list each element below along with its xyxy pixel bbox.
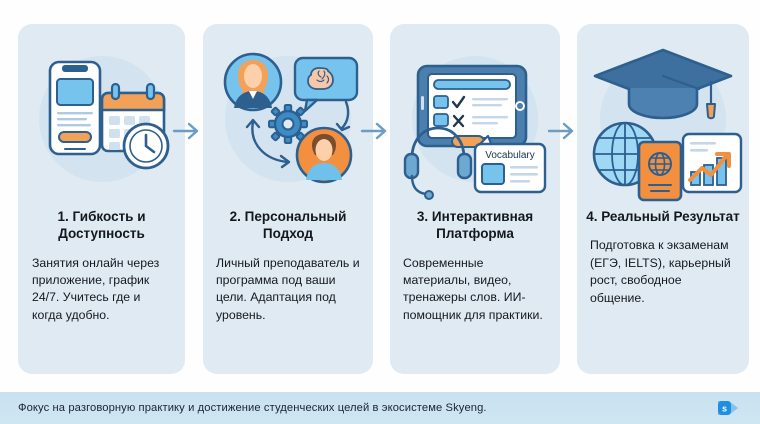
arrow-right-icon-2 [360, 120, 390, 142]
phone-calendar-clock-illustration [18, 24, 185, 206]
card-heading: 2. Персональный Подход [203, 208, 373, 243]
card4-art-svg [577, 24, 749, 206]
tablet-headset-vocabulary-illustration: Vocabulary [390, 24, 560, 206]
graduation-cap-globe-passport-chart-illustration [577, 24, 749, 206]
card-body: Занятия онлайн через приложение, график … [18, 255, 185, 325]
footer-text: Фокус на разговорную практику и достижен… [18, 402, 487, 414]
teacher-student-brain-gear-illustration [203, 24, 373, 206]
card-interactive-platform[interactable]: Vocabulary 3. Интерактивная Платформа Со… [390, 24, 560, 374]
arrow-right-icon-3 [547, 120, 577, 142]
card-heading: 1. Гибкость и Доступность [18, 208, 185, 243]
cards-row: 1. Гибкость и Доступность Занятия онлайн… [0, 24, 760, 374]
arrow-right-icon-1 [172, 120, 202, 142]
card2-art-svg [203, 24, 373, 206]
card3-art-svg: Vocabulary [390, 24, 560, 206]
infographic-root: 1. Гибкость и Доступность Занятия онлайн… [0, 0, 760, 424]
skyeng-logo-icon[interactable]: s [716, 398, 742, 418]
card-body: Подготовка к экзаменам (ЕГЭ, IELTS), кар… [577, 237, 749, 307]
card-body: Современные материалы, видео, тренажеры … [390, 255, 560, 325]
card-body: Личный преподаватель и программа под ваш… [203, 255, 373, 325]
card-real-result[interactable]: 4. Реальный Результат Подготовка к экзам… [577, 24, 749, 374]
card-heading: 3. Интерактивная Платформа [390, 208, 560, 243]
card-heading: 4. Реальный Результат [577, 208, 749, 225]
vocabulary-label: Vocabulary [485, 150, 534, 161]
card-flexibility[interactable]: 1. Гибкость и Доступность Занятия онлайн… [18, 24, 185, 374]
footer-bar: Фокус на разговорную практику и достижен… [0, 392, 760, 424]
card1-art-svg [18, 24, 185, 206]
svg-text:s: s [722, 404, 727, 414]
card-personal-approach[interactable]: 2. Персональный Подход Личный преподават… [203, 24, 373, 374]
